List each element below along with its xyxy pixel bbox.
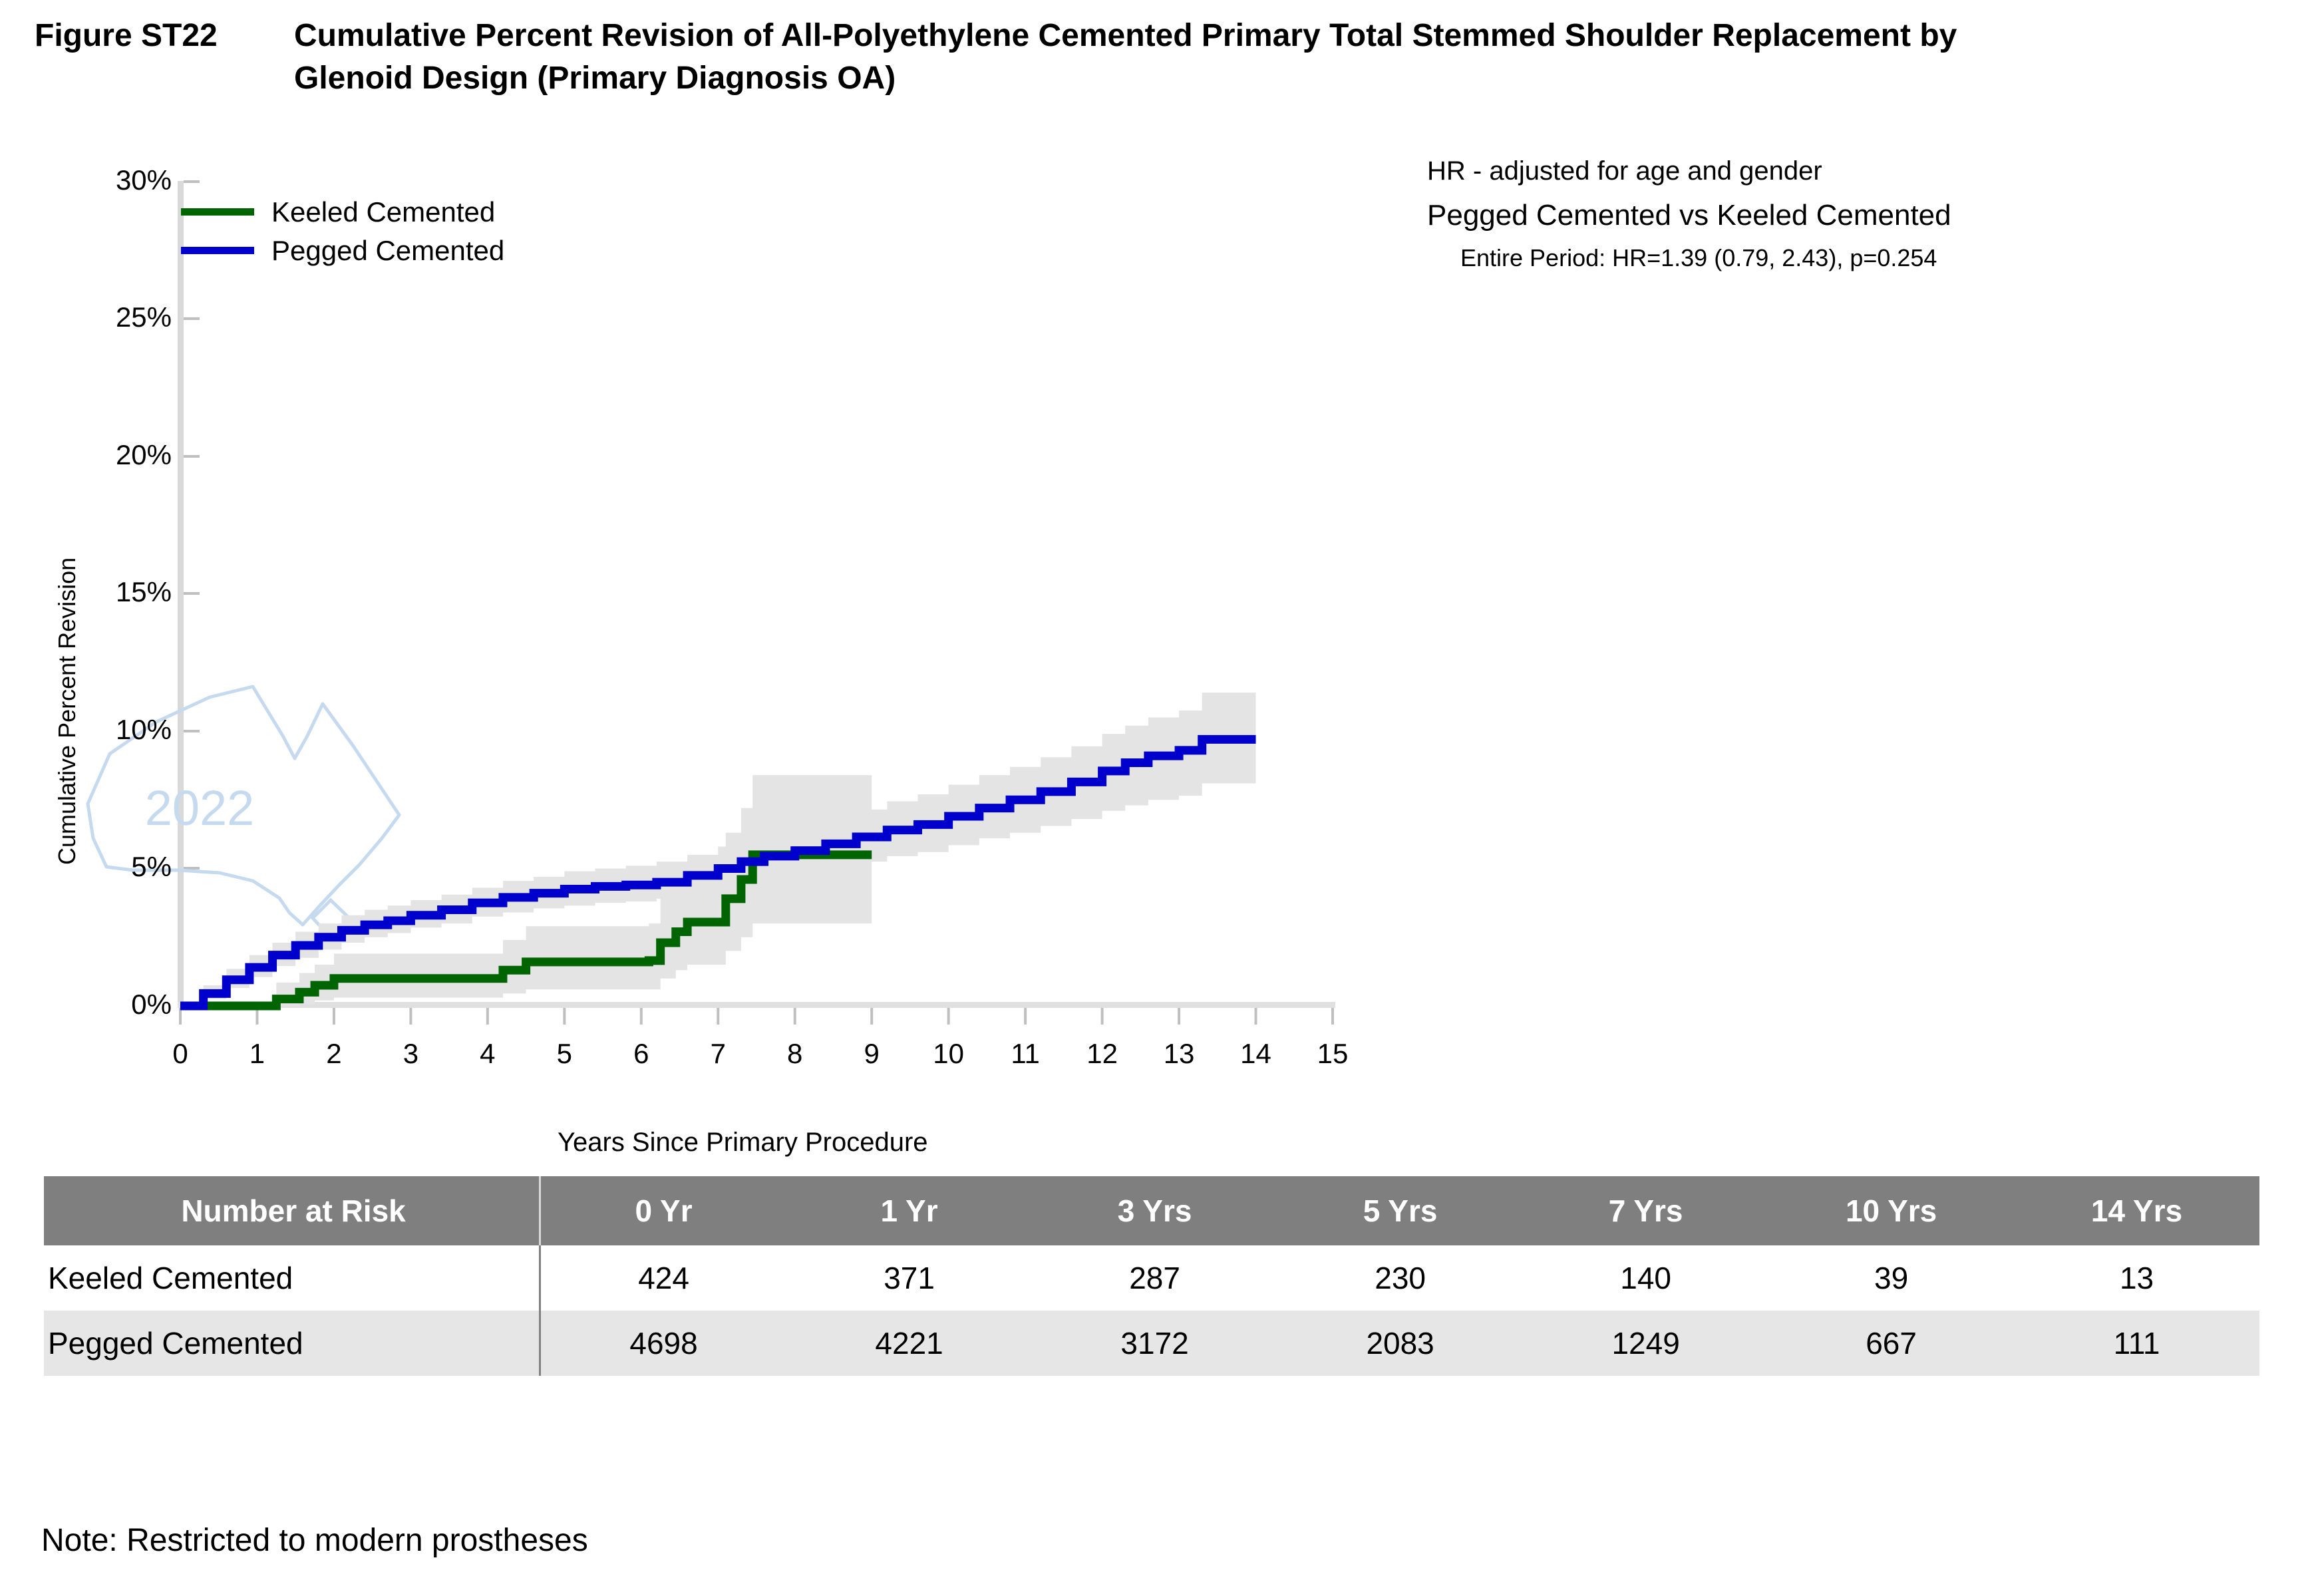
x-tick-label-12: 12 (1076, 1038, 1129, 1070)
legend-item-pegged[interactable]: Pegged Cemented (181, 232, 504, 270)
table-row: Pegged Cemented 4698 4221 3172 2083 1249… (44, 1311, 2259, 1376)
hr-comparison-label: Pegged Cemented vs Keeled Cemented (1427, 192, 2159, 239)
pegged-7yrs: 1249 (1523, 1311, 1768, 1376)
chart-plot-area: 2022 30% 25% 20% 15% 10% 5% 0% 012345678… (0, 160, 1430, 1038)
table-header-1yr: 1 Yr (786, 1176, 1032, 1245)
x-tick-label-8: 8 (768, 1038, 822, 1070)
keeled-7yrs: 140 (1523, 1245, 1768, 1311)
legend-label-pegged: Pegged Cemented (271, 235, 504, 267)
table-header-row: Number at Risk 0 Yr 1 Yr 3 Yrs 5 Yrs 7 Y… (44, 1176, 2259, 1245)
table-header-10yrs: 10 Yrs (1768, 1176, 2014, 1245)
y-axis-line (178, 181, 184, 1006)
page-title: Cumulative Percent Revision of All-Polye… (294, 15, 1997, 100)
y-tick-label-5: 5% (72, 851, 172, 883)
row-label-pegged: Pegged Cemented (44, 1311, 540, 1376)
table-header-5yrs: 5 Yrs (1277, 1176, 1523, 1245)
figure-root: Figure ST22Cumulative Percent Revision o… (0, 0, 2308, 1596)
keeled-0yr: 424 (540, 1245, 787, 1311)
y-tick-label-0: 0% (72, 989, 172, 1021)
y-tick-label-30: 30% (72, 164, 172, 196)
figure-title-block: Figure ST22Cumulative Percent Revision o… (35, 15, 2031, 100)
figure-label: Figure ST22 (35, 15, 294, 57)
y-tick-marks (184, 182, 200, 1006)
x-tick-label-0: 0 (154, 1038, 207, 1070)
x-tick-label-13: 13 (1152, 1038, 1206, 1070)
table-header-7yrs: 7 Yrs (1523, 1176, 1768, 1245)
hr-entire-period-value: Entire Period: HR=1.39 (0.79, 2.43), p=0… (1427, 239, 2159, 277)
pegged-5yrs: 2083 (1277, 1311, 1523, 1376)
y-tick-label-10: 10% (72, 714, 172, 746)
x-tick-label-4: 4 (461, 1038, 514, 1070)
x-tick-label-6: 6 (615, 1038, 668, 1070)
table-header-0yr: 0 Yr (540, 1176, 787, 1245)
table-header-14yrs: 14 Yrs (2014, 1176, 2259, 1245)
watermark-year: 2022 (145, 780, 255, 836)
chart-legend: Keeled Cemented Pegged Cemented (181, 193, 504, 270)
x-tick-label-1: 1 (230, 1038, 283, 1070)
pegged-10yrs: 667 (1768, 1311, 2014, 1376)
pegged-3yrs: 3172 (1032, 1311, 1277, 1376)
x-tick-marks (180, 1008, 1333, 1025)
table-header-title: Number at Risk (44, 1176, 540, 1245)
y-axis-title: Cumulative Percent Revision (53, 558, 81, 865)
x-tick-label-10: 10 (922, 1038, 975, 1070)
x-tick-label-2: 2 (307, 1038, 361, 1070)
pegged-14yrs: 111 (2014, 1311, 2259, 1376)
keeled-5yrs: 230 (1277, 1245, 1523, 1311)
x-tick-label-15: 15 (1306, 1038, 1359, 1070)
legend-item-keeled[interactable]: Keeled Cemented (181, 193, 504, 232)
x-tick-label-11: 11 (999, 1038, 1052, 1070)
y-tick-label-15: 15% (72, 576, 172, 608)
hazard-ratio-annotation: HR - adjusted for age and gender Pegged … (1427, 150, 2159, 277)
x-axis-line (178, 1002, 1335, 1008)
legend-swatch-keeled-icon (181, 208, 254, 216)
pegged-1yr: 4221 (786, 1311, 1032, 1376)
keeled-10yrs: 39 (1768, 1245, 2014, 1311)
pegged-0yr: 4698 (540, 1311, 787, 1376)
number-at-risk-table: Number at Risk 0 Yr 1 Yr 3 Yrs 5 Yrs 7 Y… (44, 1176, 2259, 1376)
y-tick-label-20: 20% (72, 439, 172, 471)
x-tick-label-9: 9 (845, 1038, 898, 1070)
table-row: Keeled Cemented 424 371 287 230 140 39 1… (44, 1245, 2259, 1311)
x-tick-label-7: 7 (691, 1038, 744, 1070)
keeled-3yrs: 287 (1032, 1245, 1277, 1311)
keeled-1yr: 371 (786, 1245, 1032, 1311)
hr-adjustment-note: HR - adjusted for age and gender (1427, 150, 2159, 192)
legend-label-keeled: Keeled Cemented (271, 196, 495, 228)
figure-note: Note: Restricted to modern prostheses (41, 1522, 588, 1559)
row-label-keeled: Keeled Cemented (44, 1245, 540, 1311)
x-tick-label-5: 5 (538, 1038, 591, 1070)
legend-swatch-pegged-icon (181, 247, 254, 254)
survival-curve-svg: 2022 (0, 160, 1430, 1038)
keeled-14yrs: 13 (2014, 1245, 2259, 1311)
table-header-3yrs: 3 Yrs (1032, 1176, 1277, 1245)
x-axis-title: Years Since Primary Procedure (558, 1128, 928, 1158)
x-tick-label-3: 3 (384, 1038, 437, 1070)
x-tick-label-14: 14 (1230, 1038, 1283, 1070)
y-tick-label-25: 25% (72, 301, 172, 333)
